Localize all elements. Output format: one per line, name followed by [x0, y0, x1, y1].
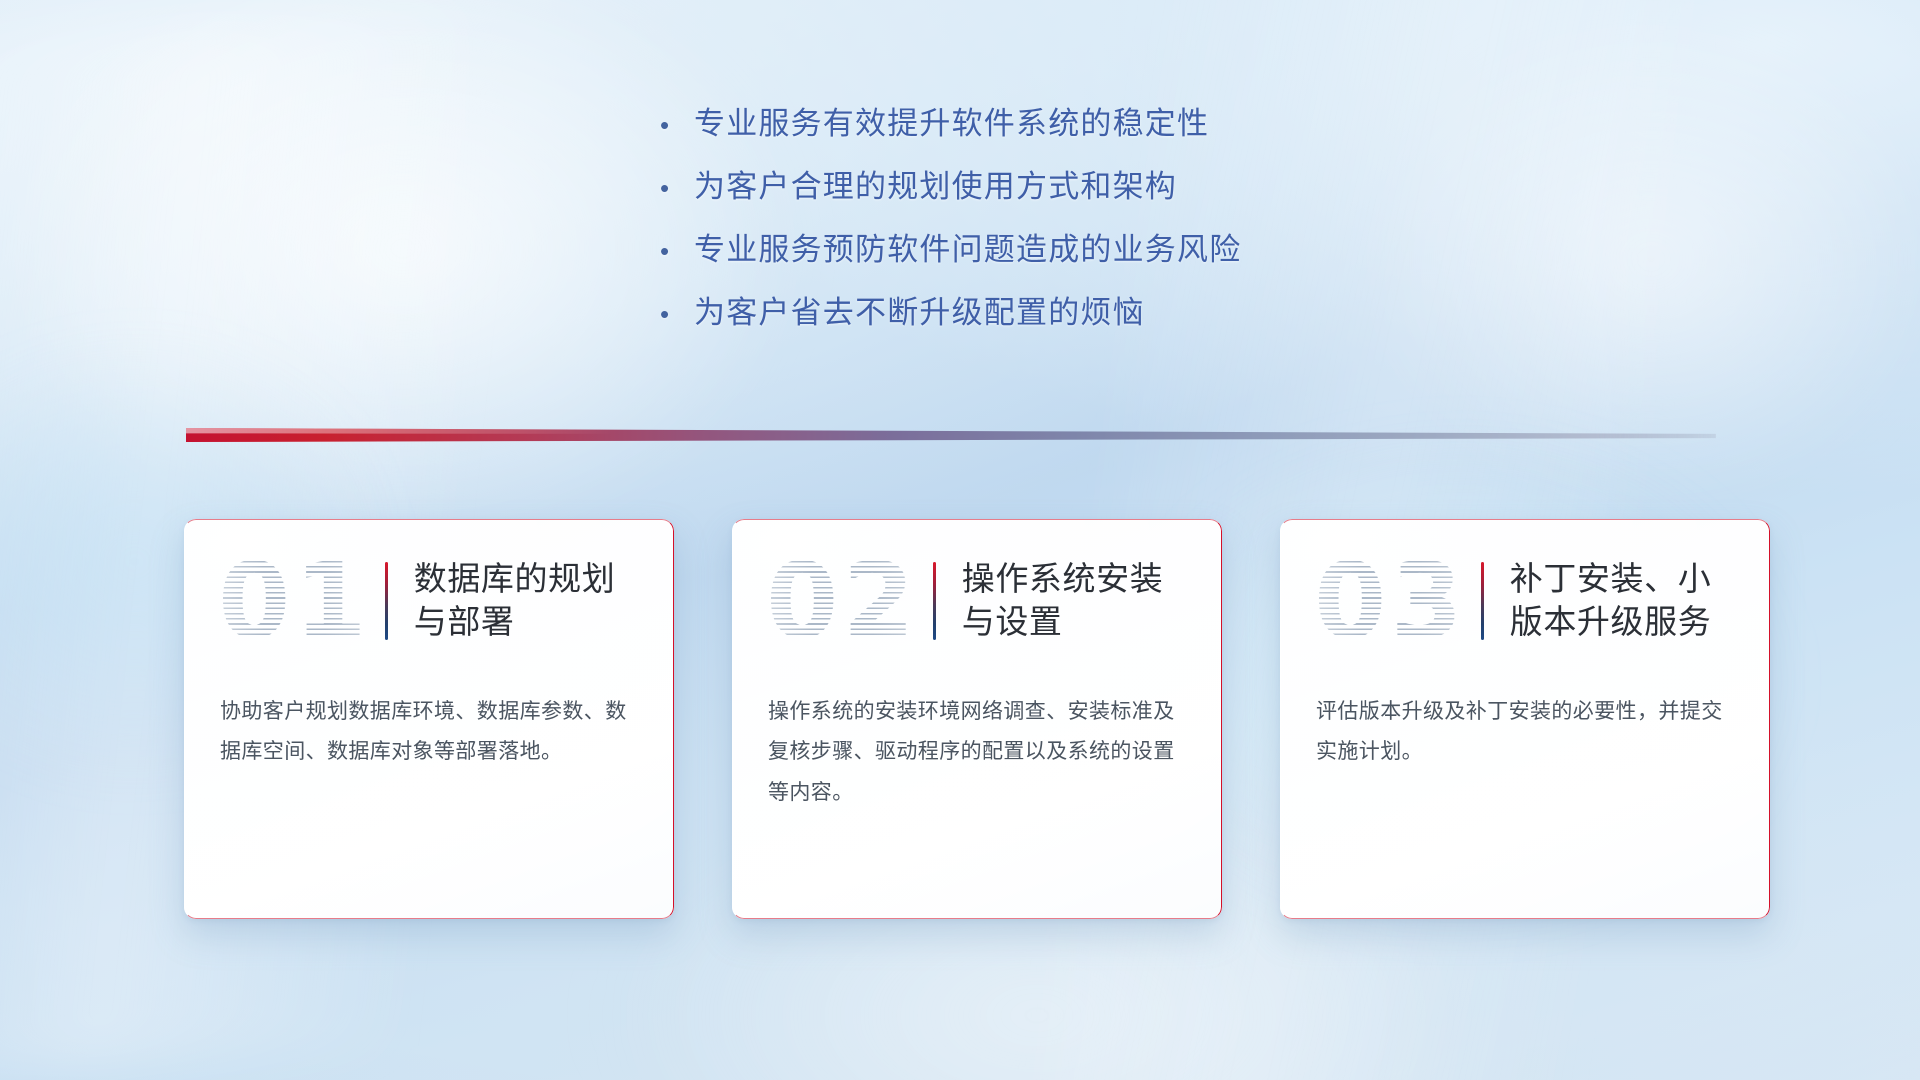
card-03-body: 评估版本升级及补丁安装的必要性，并提交实施计划。 — [1280, 682, 1770, 773]
card-02-number: 02 — [766, 540, 919, 662]
card-03-header: 03 补丁安装、小 版本升级服务 — [1280, 519, 1770, 682]
bullet-item-3-text: 专业服务预防软件问题造成的业务风险 — [694, 234, 1241, 265]
card-03-number: 03 — [1314, 540, 1467, 662]
service-card-02[interactable]: 02 操作系统安装 与设置 操作系统的安装环境网络调查、安装标准及复核步骤、驱动… — [732, 519, 1222, 919]
service-card-01[interactable]: 01 数据库的规划 与部署 协助客户规划数据库环境、数据库参数、数据库空间、数据… — [184, 519, 674, 919]
bullet-item-1: • 专业服务有效提升软件系统的稳定性 — [660, 108, 1480, 139]
card-03-title: 补丁安装、小 版本升级服务 — [1510, 558, 1712, 642]
service-card-03[interactable]: 03 补丁安装、小 版本升级服务 评估版本升级及补丁安装的必要性，并提交实施计划… — [1280, 519, 1770, 919]
card-02-body: 操作系统的安装环境网络调查、安装标准及复核步骤、驱动程序的配置以及系统的设置等内… — [732, 682, 1222, 813]
card-02-number-wrap: 02 — [766, 549, 919, 653]
card-03-number-wrap: 03 — [1314, 549, 1467, 653]
card-01-number-wrap: 01 — [218, 549, 371, 653]
bullet-item-4-text: 为客户省去不断升级配置的烦恼 — [694, 297, 1145, 328]
bullet-item-3: • 专业服务预防软件问题造成的业务风险 — [660, 234, 1480, 265]
section-divider — [186, 428, 1716, 442]
bullet-item-2: • 为客户合理的规划使用方式和架构 — [660, 171, 1480, 202]
bullet-item-4: • 为客户省去不断升级配置的烦恼 — [660, 297, 1480, 328]
card-03-divider-bar — [1481, 562, 1484, 640]
bullet-marker-icon: • — [660, 238, 694, 264]
benefits-bullet-list: • 专业服务有效提升软件系统的稳定性 • 为客户合理的规划使用方式和架构 • 专… — [660, 108, 1480, 328]
card-01-header: 01 数据库的规划 与部署 — [184, 519, 674, 682]
service-card-group: 01 数据库的规划 与部署 协助客户规划数据库环境、数据库参数、数据库空间、数据… — [184, 519, 1770, 919]
bullet-marker-icon: • — [660, 301, 694, 327]
bullet-item-1-text: 专业服务有效提升软件系统的稳定性 — [694, 108, 1209, 139]
card-01-number: 01 — [218, 540, 371, 662]
card-02-header: 02 操作系统安装 与设置 — [732, 519, 1222, 682]
card-01-title: 数据库的规划 与部署 — [414, 558, 616, 642]
card-02-title: 操作系统安装 与设置 — [962, 558, 1164, 642]
bullet-item-2-text: 为客户合理的规划使用方式和架构 — [694, 171, 1177, 202]
bullet-marker-icon: • — [660, 112, 694, 138]
bullet-marker-icon: • — [660, 175, 694, 201]
card-01-divider-bar — [385, 562, 388, 640]
card-01-body: 协助客户规划数据库环境、数据库参数、数据库空间、数据库对象等部署落地。 — [184, 682, 674, 773]
card-02-divider-bar — [933, 562, 936, 640]
